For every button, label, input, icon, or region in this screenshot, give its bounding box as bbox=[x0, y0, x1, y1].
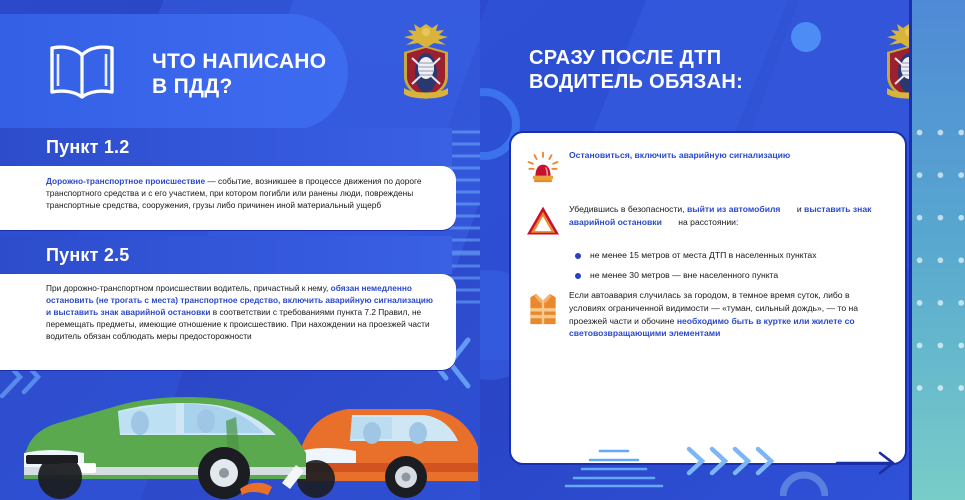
siren-icon bbox=[517, 149, 569, 193]
item-band-2: Пункт 2.5 bbox=[0, 236, 452, 274]
right-panel-title: СРАЗУ ПОСЛЕ ДТПВОДИТЕЛЬ ОБЯЗАН: bbox=[529, 46, 819, 94]
infographic-stage: ЧТО НАПИСАНОВ ПДД? bbox=[0, 0, 965, 500]
item-band-label-2: Пункт 2.5 bbox=[0, 245, 129, 266]
chevron-row-decoration bbox=[685, 444, 781, 478]
instruction-text-2-mid: и bbox=[794, 204, 804, 214]
item-text-1: Дорожно-транспортное происшествие — собы… bbox=[0, 166, 456, 211]
arc-decoration bbox=[780, 470, 828, 496]
next-arrow-icon[interactable] bbox=[835, 450, 897, 476]
instruction-block-2: Убедившись в безопасности, выйти из авто… bbox=[517, 203, 901, 247]
instruction-block-1: Остановиться, включить аварийную сигнали… bbox=[517, 149, 901, 193]
dot-grid bbox=[912, 0, 965, 473]
left-panel: ЧТО НАПИСАНОВ ПДД? bbox=[0, 0, 480, 500]
car-crash-illustration bbox=[0, 355, 480, 500]
distance-bullet-list: не менее 15 метров от места ДТП в населе… bbox=[517, 247, 901, 282]
open-book-icon bbox=[46, 42, 118, 100]
mvd-emblem-icon bbox=[394, 18, 458, 102]
instructions-card: Остановиться, включить аварийную сигнали… bbox=[509, 131, 907, 465]
left-hero-title: ЧТО НАПИСАНОВ ПДД? bbox=[152, 50, 352, 99]
item-band-1: Пункт 1.2 bbox=[0, 128, 452, 166]
warning-triangle-icon bbox=[517, 203, 569, 247]
item-band-label-1: Пункт 1.2 bbox=[0, 137, 129, 158]
instruction-text-1: Остановиться, включить аварийную сигнали… bbox=[569, 149, 804, 162]
list-item: не менее 30 метров — вне населенного пун… bbox=[575, 269, 901, 282]
instruction-text-2-hl1: выйти из автомобиля bbox=[687, 204, 794, 214]
instruction-text-2: Убедившись в безопасности, выйти из авто… bbox=[569, 203, 901, 229]
list-item: не менее 15 метров от места ДТП в населе… bbox=[575, 249, 901, 262]
fan-lines-decoration bbox=[560, 444, 668, 488]
instruction-text-3: Если автоавария случилась за городом, в … bbox=[569, 289, 901, 341]
safety-vest-icon bbox=[517, 289, 569, 333]
instruction-block-3: Если автоавария случилась за городом, в … bbox=[517, 289, 901, 341]
item-text-2: При дорожно-транспортном происшествии во… bbox=[0, 274, 456, 343]
right-panel: СРАЗУ ПОСЛЕ ДТПВОДИТЕЛЬ ОБЯЗАН: bbox=[480, 0, 965, 500]
item-card-1: Дорожно-транспортное происшествие — собы… bbox=[0, 166, 456, 230]
item-text-2-pre: При дорожно-транспортном происшествии во… bbox=[46, 283, 331, 293]
item-text-1-highlight: Дорожно-транспортное происшествие bbox=[46, 176, 205, 186]
gradient-strip-decoration bbox=[909, 0, 965, 500]
instruction-text-2-rest: на расстоянии: bbox=[676, 217, 738, 227]
instruction-text-2-pre: Убедившись в безопасности, bbox=[569, 204, 687, 214]
